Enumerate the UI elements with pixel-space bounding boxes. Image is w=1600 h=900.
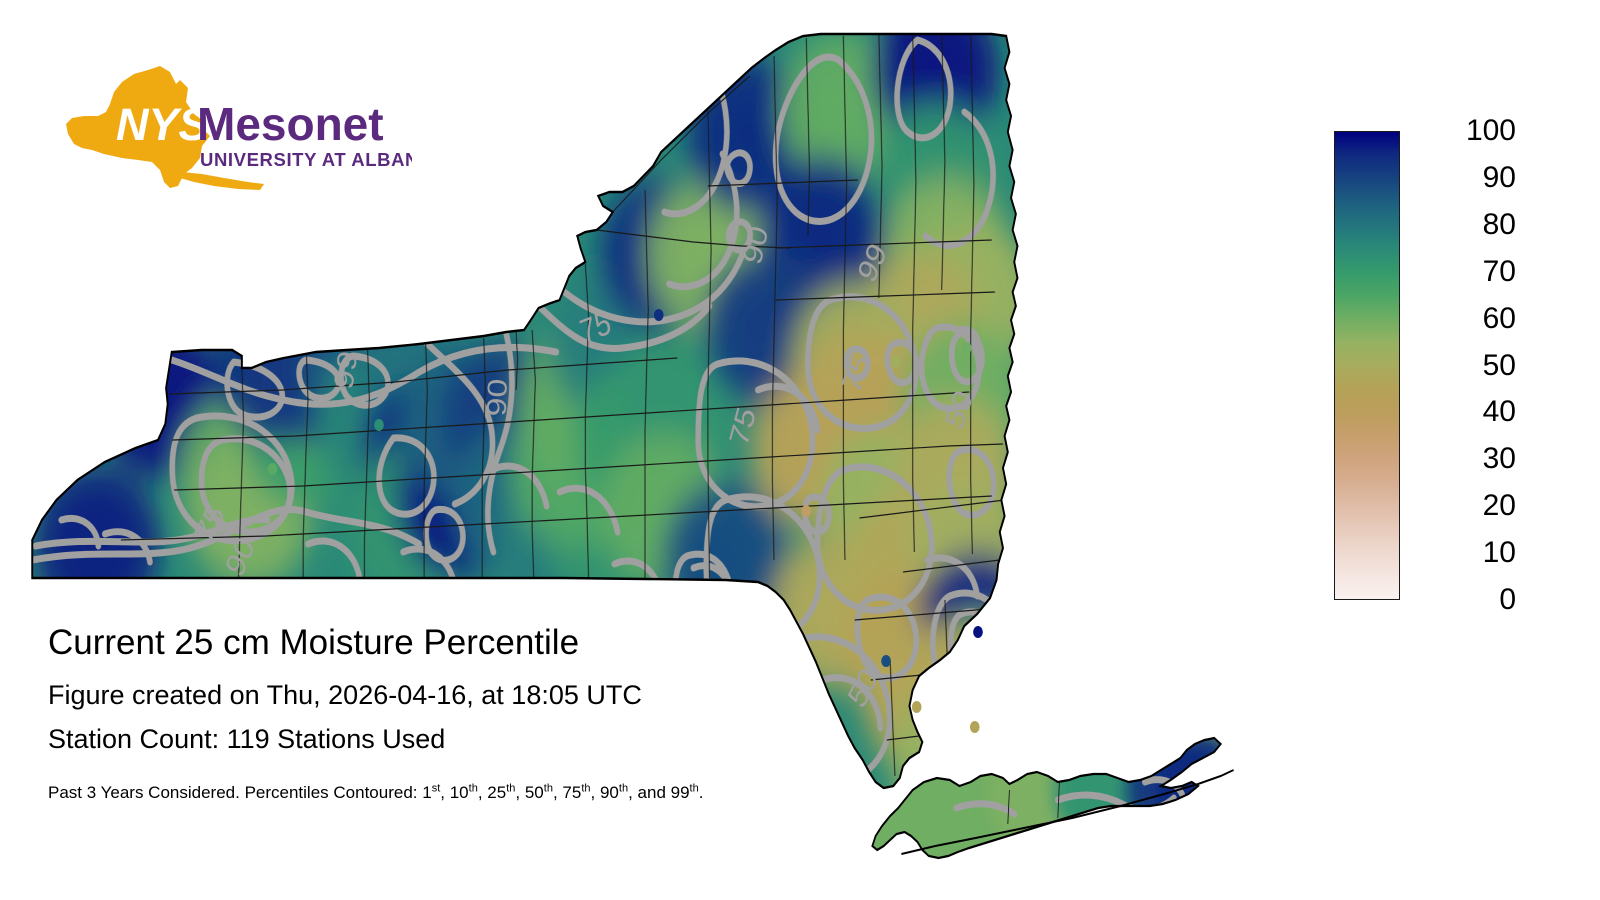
colorbar-tick-labels: 1009080706050403020100 [1408, 110, 1538, 622]
field-blob-core [647, 348, 715, 432]
ordinal-suffix: th [690, 782, 699, 794]
colorbar-tick-40: 40 [1408, 397, 1516, 427]
contour-note-line: Past 3 Years Considered. Percentiles Con… [48, 782, 1048, 804]
ordinal-suffix: th [506, 782, 515, 794]
station-count-line: Station Count: 119 Stations Used [48, 722, 1048, 756]
nys-mesonet-logo: NYS Mesonet UNIVERSITY AT ALBANY [52, 62, 412, 192]
colorbar: 1009080706050403020100 [1320, 110, 1580, 630]
contour-label-90: 90 [481, 378, 513, 417]
colorbar-tick-50: 50 [1408, 351, 1516, 381]
field-blob-core [901, 28, 969, 112]
colorbar-tick-10: 10 [1408, 538, 1516, 568]
logo-nys-text: NYS [116, 99, 209, 150]
colorbar-tick-100: 100 [1408, 116, 1516, 146]
colorbar-tick-0: 0 [1408, 585, 1516, 615]
colorbar-tick-90: 90 [1408, 163, 1516, 193]
colorbar-tick-30: 30 [1408, 444, 1516, 474]
station-marker [801, 505, 811, 517]
logo-mesonet-text: Mesonet [197, 98, 384, 150]
station-marker [654, 309, 664, 321]
contour-label-99: 99 [328, 348, 364, 392]
colorbar-tick-80: 80 [1408, 210, 1516, 240]
ordinal-suffix: th [469, 782, 478, 794]
field-blob-core [692, 518, 760, 602]
figure-caption-block: Current 25 cm Moisture Percentile Figure… [48, 622, 1048, 804]
station-marker [268, 463, 278, 475]
field-blob-core [127, 358, 195, 442]
logo-tagline: UNIVERSITY AT ALBANY [200, 149, 412, 170]
page-title: Current 25 cm Moisture Percentile [48, 622, 1048, 664]
ordinal-suffix: th [619, 782, 628, 794]
field-blob [1156, 734, 1246, 846]
station-marker [962, 342, 972, 354]
colorbar-gradient [1334, 131, 1400, 600]
ordinal-suffix: th [581, 782, 590, 794]
colorbar-tick-70: 70 [1408, 257, 1516, 287]
ordinal-suffix: st [432, 782, 441, 794]
figure-created-line: Figure created on Thu, 2026-04-16, at 18… [48, 678, 1048, 712]
station-marker [891, 356, 901, 368]
ordinal-suffix: th [544, 782, 553, 794]
colorbar-tick-60: 60 [1408, 304, 1516, 334]
colorbar-tick-20: 20 [1408, 491, 1516, 521]
station-marker [374, 419, 384, 431]
